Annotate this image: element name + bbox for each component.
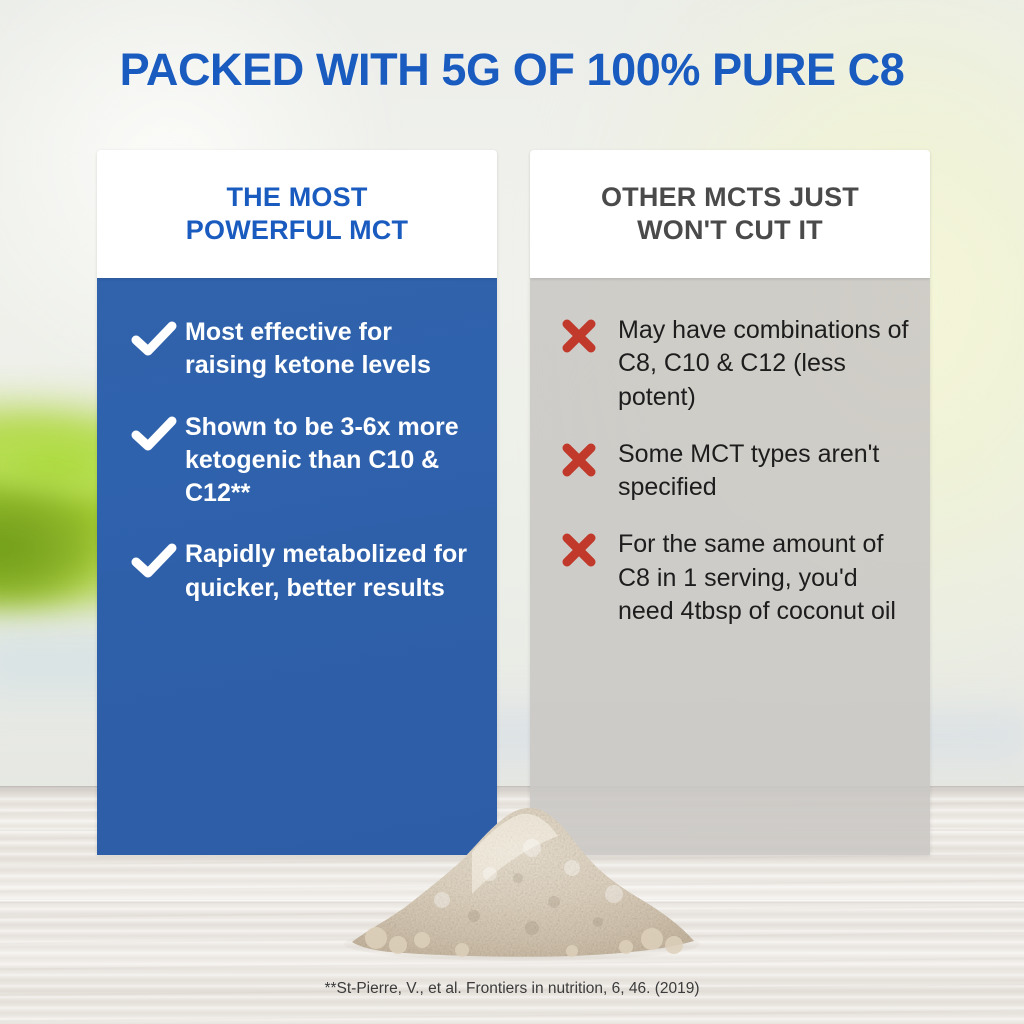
- cross-icon: [560, 438, 618, 478]
- list-item: Most effective for raising ketone levels: [131, 316, 471, 383]
- panel-left-title-line-2: POWERFUL MCT: [186, 215, 408, 245]
- list-item: For the same amount of C8 in 1 serving, …: [560, 528, 910, 628]
- panel-left-header: THE MOST POWERFUL MCT: [97, 150, 497, 278]
- check-icon: [131, 538, 185, 578]
- citation-footnote: **St-Pierre, V., et al. Frontiers in nut…: [0, 980, 1024, 998]
- panel-left-body: Most effective for raising ketone levels…: [97, 278, 497, 855]
- list-item-label: May have combinations of C8, C10 & C12 (…: [618, 314, 910, 414]
- panel-right-title-line-2: WON'T CUT IT: [637, 215, 823, 245]
- list-item-label: Shown to be 3-6x more ketogenic than C10…: [185, 411, 471, 511]
- panel-right-body: May have combinations of C8, C10 & C12 (…: [530, 278, 930, 855]
- panel-right-header: OTHER MCTS JUST WON'T CUT IT: [530, 150, 930, 278]
- list-item: Shown to be 3-6x more ketogenic than C10…: [131, 411, 471, 511]
- cross-icon: [560, 314, 618, 354]
- check-icon: [131, 316, 185, 356]
- page-title: PACKED WITH 5G OF 100% PURE C8: [0, 44, 1024, 96]
- check-icon: [131, 411, 185, 451]
- panel-right-title-line-1: OTHER MCTS JUST: [601, 182, 859, 212]
- panel-most-powerful-mct: THE MOST POWERFUL MCT Most effective for…: [97, 150, 497, 855]
- list-item-label: Some MCT types aren't specified: [618, 438, 910, 505]
- panel-right-title: OTHER MCTS JUST WON'T CUT IT: [583, 181, 877, 248]
- panel-right-bullet-list: May have combinations of C8, C10 & C12 (…: [560, 314, 910, 628]
- list-item: Some MCT types aren't specified: [560, 438, 910, 505]
- list-item: May have combinations of C8, C10 & C12 (…: [560, 314, 910, 414]
- list-item-label: Most effective for raising ketone levels: [185, 316, 471, 383]
- panel-left-title: THE MOST POWERFUL MCT: [168, 181, 426, 248]
- cross-icon: [560, 528, 618, 568]
- mct-powder-pile-image: [322, 782, 712, 964]
- panel-left-title-line-1: THE MOST: [226, 182, 367, 212]
- panel-left-bullet-list: Most effective for raising ketone levels…: [131, 316, 471, 605]
- panel-other-mcts: OTHER MCTS JUST WON'T CUT IT May have co…: [530, 150, 930, 855]
- list-item-label: For the same amount of C8 in 1 serving, …: [618, 528, 910, 628]
- list-item-label: Rapidly metabolized for quicker, better …: [185, 538, 471, 605]
- list-item: Rapidly metabolized for quicker, better …: [131, 538, 471, 605]
